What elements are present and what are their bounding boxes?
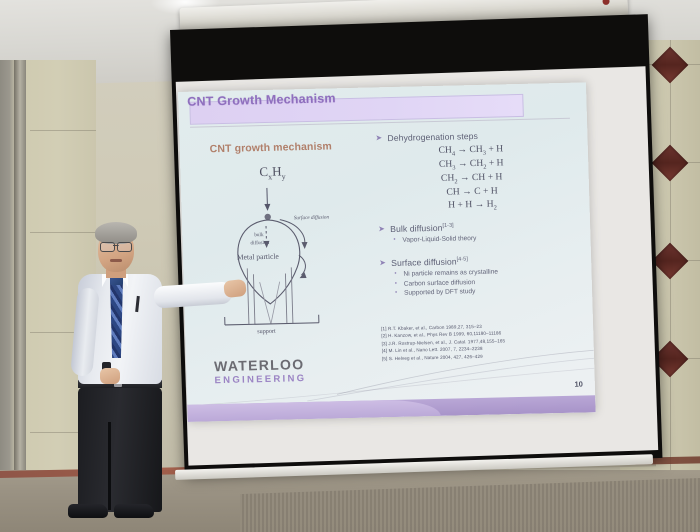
arrow-bullet-icon: ➤: [379, 258, 386, 267]
tile-seam: [30, 130, 96, 131]
glasses-lens-left: [100, 242, 115, 252]
section-heading-dehydrogenation: ➤ Dehydrogenation steps: [375, 129, 575, 144]
sub-bullet-text: Supported by DFT study: [404, 288, 476, 297]
presenter-hand-left: [100, 368, 120, 384]
sub-bullet-text: Vapor-Liquid-Solid theory: [402, 235, 476, 244]
section-heading-text: Bulk diffusion: [390, 222, 443, 233]
section-superscript: [1-3]: [442, 222, 453, 228]
dot-bullet-icon: •: [395, 281, 397, 287]
wall-edge-trim: [14, 60, 26, 532]
wall-diamond-tile: [652, 47, 689, 84]
dot-bullet-icon: •: [395, 290, 397, 296]
presenter-trousers: [78, 387, 162, 512]
glasses-lens-right: [117, 242, 132, 252]
section-heading-bulk-diffusion: ➤ Bulk diffusion[1-3]: [378, 219, 578, 234]
section-superscript: [4-5]: [457, 256, 468, 262]
presenter-hand-pointing: [223, 279, 247, 298]
slide-body-column: ➤ Dehydrogenation steps CH4 → CH3 + H CH…: [375, 129, 580, 300]
screen-indicator-icon: [602, 0, 609, 5]
dot-bullet-icon: •: [393, 237, 395, 243]
sub-bullet-text: Ni particle remains as crystalline: [403, 269, 498, 278]
label-surface-diffusion: Surface diffusion: [294, 214, 329, 221]
dot-bullet-icon: •: [394, 271, 396, 277]
wall-diamond-tile: [652, 243, 689, 280]
presentation-slide: CNT Growth Mechanism CNT growth mechanis…: [178, 82, 596, 421]
slide-subtitle: CNT growth mechanism: [210, 140, 333, 155]
sub-bullet: • Supported by DFT study: [380, 286, 580, 298]
label-bulk-diffusion-1: bulk: [254, 232, 263, 238]
leg-seam: [108, 422, 111, 510]
label-bulk-diffusion-2: diffusion: [250, 240, 269, 246]
arrow-bullet-icon: ➤: [375, 133, 382, 142]
label-metal-particle: Metal particle: [237, 252, 279, 262]
presenter-shoe-right: [114, 504, 154, 518]
presenter-mouth: [110, 259, 122, 262]
presenter-tie: [110, 280, 123, 358]
growth-mechanism-diagram: CxHy: [204, 162, 359, 345]
diagram-svg: [204, 162, 359, 345]
wall-diamond-tile: [652, 145, 689, 182]
label-support: support: [257, 328, 276, 335]
arrow-bullet-icon: ➤: [378, 224, 385, 233]
presenter: [58, 222, 218, 522]
lecture-photo: CNT Growth Mechanism CNT growth mechanis…: [0, 0, 700, 532]
sub-bullet-text: Carbon surface diffusion: [404, 279, 476, 288]
presenter-shoe-left: [68, 504, 108, 518]
dehydrogenation-equations: CH4 → CH3 + H CH3 → CH2 + H CH2 → CH + H: [376, 142, 578, 215]
presenter-glasses-icon: [100, 242, 132, 250]
section-heading-text: Dehydrogenation steps: [387, 131, 478, 143]
presenter-hair: [95, 222, 137, 244]
section-heading-text: Surface diffusion: [391, 257, 457, 269]
